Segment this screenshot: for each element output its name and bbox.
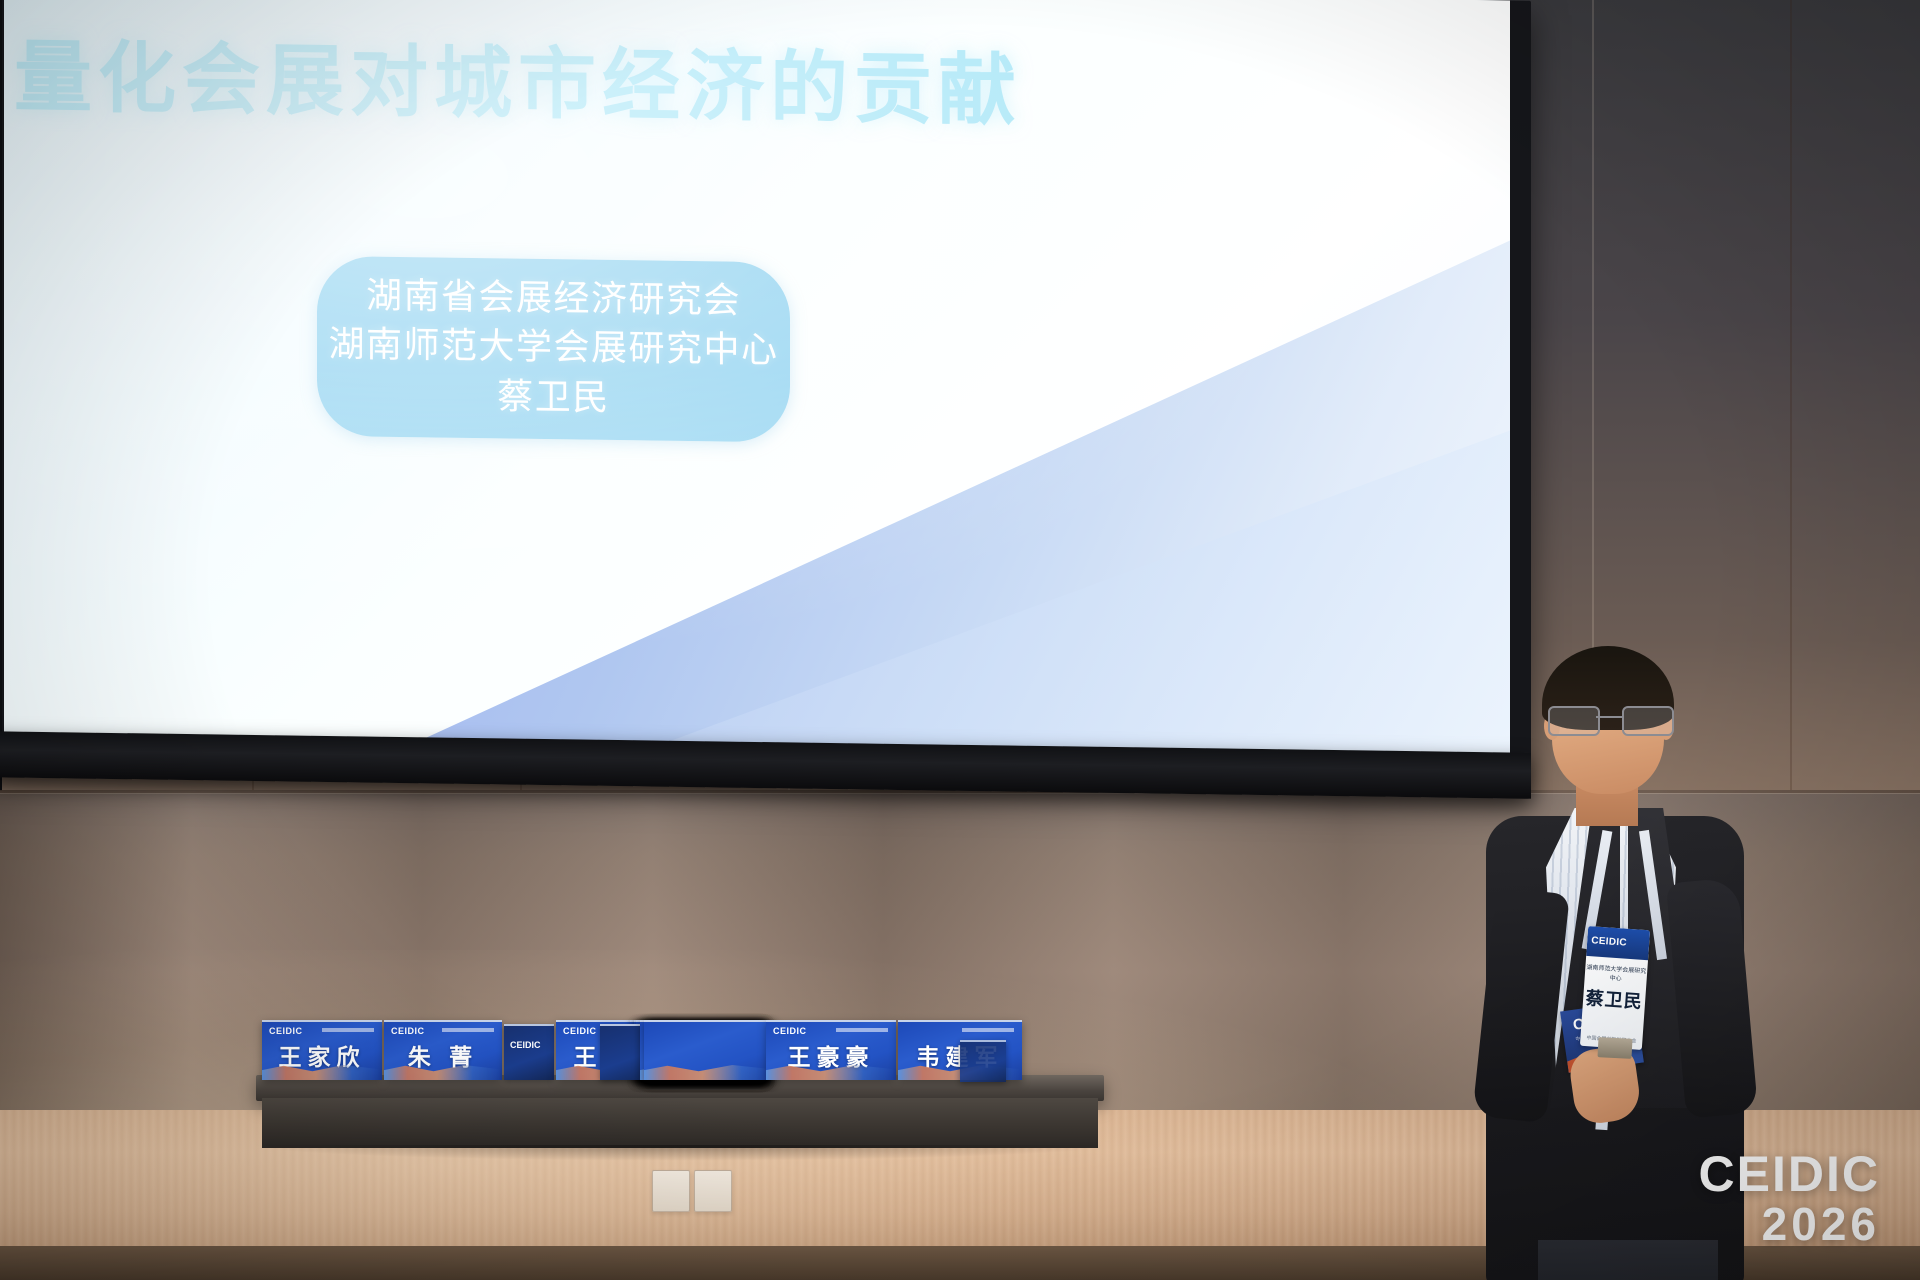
name-card-strip	[836, 1028, 888, 1032]
slide-affiliation-box: 湖南省会展经济研究会 湖南师范大学会展研究中心 蔡卫民	[317, 256, 790, 443]
eyeglasses	[1548, 706, 1670, 732]
slide-title: 量化会展对城市经济的贡献	[14, 35, 1374, 138]
badge-brand: CEIDIC	[1591, 935, 1627, 948]
projection-screen-surface: 量化会展对城市经济的贡献 湖南省会展经济研究会 湖南师范大学会展研究中心 蔡卫民	[4, 0, 1510, 760]
name-card-strip	[442, 1028, 494, 1032]
presentation-table-front	[262, 1098, 1098, 1148]
name-card-brand: CEIDIC	[269, 1026, 303, 1036]
slide-diagonal-wedge	[410, 225, 1510, 760]
name-card-wave	[644, 1058, 774, 1080]
name-card-brand: CEIDIC	[773, 1026, 807, 1036]
conference-photo-scene: 量化会展对城市经济的贡献 湖南省会展经济研究会 湖南师范大学会展研究中心 蔡卫民…	[0, 0, 1920, 1280]
name-card-brand: CEIDIC	[510, 1040, 541, 1050]
screen-left-edge	[0, 0, 2, 790]
name-card-edge	[960, 1040, 1006, 1082]
presenter-name: 蔡卫民	[317, 368, 790, 424]
badge-name: 蔡卫民	[1582, 984, 1646, 1014]
badge-header: CEIDIC	[1586, 926, 1650, 960]
wall-outlet[interactable]	[694, 1170, 732, 1212]
name-card: CEIDIC 朱 菁	[384, 1020, 502, 1080]
name-card: CEIDIC 王家欣	[262, 1020, 382, 1080]
name-card-brand: CEIDIC	[391, 1026, 425, 1036]
wall-switch[interactable]	[652, 1170, 690, 1212]
presentation-slide: 量化会展对城市经济的贡献 湖南省会展经济研究会 湖南师范大学会展研究中心 蔡卫民	[4, 0, 1510, 760]
name-card	[644, 1020, 774, 1080]
badge-clip	[1598, 1037, 1633, 1059]
trousers	[1538, 1240, 1718, 1280]
name-card: CEIDIC 王豪豪	[766, 1020, 896, 1080]
name-card-brand: CEIDIC	[563, 1026, 597, 1036]
presenter: CEIDIC 中国会展创新发展大会 CEIDIC 湖南师范大学会展研究中心 蔡卫…	[1480, 640, 1780, 1280]
table-shadow	[250, 1145, 1110, 1161]
attendee-badge: CEIDIC 湖南师范大学会展研究中心 蔡卫民 中国会展创新发展大会	[1580, 926, 1650, 1050]
badge-organization: 湖南师范大学会展研究中心	[1584, 962, 1647, 984]
name-card-strip	[322, 1028, 374, 1032]
affiliation-line-1: 湖南省会展经济研究会	[317, 270, 790, 326]
slide-diagonal-wedge-secondary	[650, 418, 1510, 760]
projection-screen: 量化会展对城市经济的贡献 湖南省会展经济研究会 湖南师范大学会展研究中心 蔡卫民	[0, 0, 1531, 791]
affiliation-line-2: 湖南师范大学会展研究中心	[317, 319, 790, 375]
name-card-edge: CEIDIC	[504, 1024, 554, 1080]
name-card-strip	[962, 1028, 1014, 1032]
